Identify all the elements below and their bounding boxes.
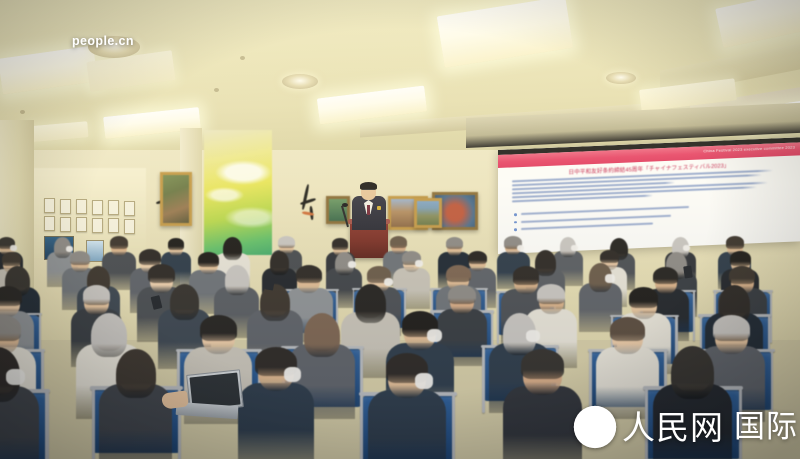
chair-leg	[693, 291, 695, 341]
recessed-downlight	[606, 72, 636, 84]
audience-member-hair	[2, 252, 21, 266]
audience-member-hair	[332, 238, 348, 249]
slide-bullet-text	[521, 215, 671, 223]
press-conference-photo: China Festival 2023 executive committee …	[0, 0, 800, 459]
framed-painting-landscape-c-canvas	[417, 201, 439, 225]
chair-leg	[92, 388, 95, 459]
audience-member-hair	[446, 237, 464, 250]
audience-member-hair	[304, 313, 340, 357]
audience-member-hair	[200, 315, 237, 341]
face-mask	[526, 330, 540, 342]
speaker-lapel-badge	[377, 206, 381, 210]
audience-member-hair	[139, 249, 161, 264]
audience-member-hair	[446, 265, 471, 283]
chair-leg	[497, 292, 499, 344]
ceiling-speaker-dot-2	[240, 56, 245, 60]
watermark-section: 国际	[734, 412, 798, 443]
audience-member-hair	[610, 317, 645, 341]
audience-member-hair	[468, 251, 487, 265]
bullet-dot-icon	[514, 228, 517, 231]
audience-member-torso	[368, 390, 446, 459]
audience-member-hair	[390, 236, 407, 248]
audience-member-hair	[713, 315, 749, 341]
watermark-brand: 人民网	[622, 411, 724, 444]
chair-leg	[360, 394, 363, 459]
audience-member-hair	[653, 267, 678, 285]
framed-painting-landscape-c	[414, 198, 442, 228]
face-mask	[348, 261, 356, 268]
audience-member-hair	[448, 285, 475, 304]
slide-bullet-text	[521, 223, 653, 231]
bullet-dot-icon	[514, 213, 517, 216]
audience-member-hair	[223, 237, 242, 260]
chair-leg	[482, 346, 485, 413]
audience-member-hair	[198, 252, 219, 267]
face-mask	[605, 274, 615, 283]
audience-member-hair	[168, 238, 185, 250]
recessed-downlight	[282, 74, 318, 89]
audience-member-hair	[83, 285, 111, 305]
face-mask	[415, 373, 432, 388]
chair-leg	[452, 394, 455, 459]
face-mask	[427, 329, 442, 342]
smartphone-3	[683, 266, 693, 279]
audience-member-hair	[730, 251, 751, 266]
audience-member-torso	[238, 383, 314, 459]
audience-member-hair	[537, 284, 565, 304]
face-mask	[284, 367, 301, 382]
projection-screen: China Festival 2023 executive committee …	[498, 137, 800, 254]
audience-member-torso	[503, 386, 582, 459]
audience-member-hair	[260, 284, 290, 321]
microphone-head	[342, 203, 348, 207]
audience-member-hair	[225, 265, 250, 295]
ceiling-speaker-dot-1	[214, 88, 219, 92]
bullet-dot-icon	[514, 221, 517, 224]
small-framed-picture-grid	[44, 198, 144, 232]
speaker-glasses	[362, 189, 375, 193]
audience-member-hair	[70, 251, 90, 265]
face-mask	[66, 246, 73, 252]
audience-member-hair	[355, 284, 387, 323]
audience-member-hair	[296, 265, 322, 283]
chair-leg	[45, 391, 48, 459]
audience-member-hair	[110, 236, 128, 249]
audience-member-hair	[148, 264, 174, 283]
audience-member-hair	[116, 349, 156, 398]
audience-member-hair	[513, 266, 539, 285]
slide-bullet-list	[514, 203, 764, 236]
framed-painting-figure	[160, 172, 192, 226]
watermark[interactable]: 人民网 国际	[572, 404, 798, 450]
audience-member-hair	[729, 266, 755, 284]
audience-member-hair	[629, 287, 658, 308]
people-cn-logo-icon	[572, 404, 618, 450]
audience-member-hair	[521, 349, 564, 379]
audience-member-hair	[278, 236, 294, 248]
face-mask	[571, 245, 578, 251]
decorative-mural-panel	[204, 130, 272, 255]
framed-painting-figure-canvas	[163, 175, 189, 223]
speaker-tie	[367, 205, 370, 215]
face-mask	[6, 369, 24, 385]
watermark-url: people.cn	[72, 34, 134, 48]
audience-member-hair	[170, 284, 199, 319]
audience-member-hair	[600, 250, 619, 264]
audience-member-hair	[270, 251, 289, 275]
ceiling-speaker-dot-3	[20, 110, 25, 114]
audience-member-hair	[91, 313, 127, 358]
audience-member-hair	[671, 346, 714, 399]
audience-member-hair	[726, 236, 744, 249]
